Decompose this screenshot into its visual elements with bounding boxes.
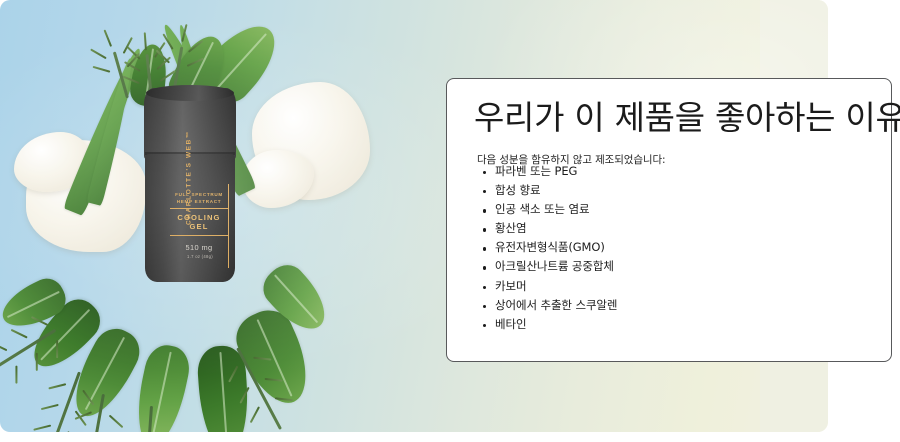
bottle-label-rule-vertical	[228, 184, 229, 268]
list-item: 상어에서 추출한 스쿠알렌	[483, 300, 617, 312]
bottle-label-rule-top	[170, 208, 228, 209]
list-item: 아크릴산나트륨 공중합체	[483, 261, 617, 273]
product-info-card: 우리가 이 제품을 좋아하는 이유 다음 성분을 함유하지 않고 제조되었습니다…	[446, 78, 892, 362]
list-item: 인공 색소 또는 염료	[483, 204, 617, 216]
bottle-label-block: FULL SPECTRUM HEMP EXTRACT COOLING GEL 5…	[170, 192, 228, 252]
card-title: 우리가 이 제품을 좋아하는 이유	[474, 100, 900, 137]
list-item: 카보머	[483, 281, 617, 293]
bottle-strength: 510 mg	[170, 239, 228, 252]
list-item: 황산염	[483, 223, 617, 235]
bottle-net-weight: 1.7 oz (48g)	[174, 254, 226, 259]
page-root: CHARLOTTE'S WEB™ FULL SPECTRUM HEMP EXTR…	[0, 0, 900, 442]
list-item: 합성 향료	[483, 185, 617, 197]
bottle-label-rule-bottom	[170, 235, 228, 236]
bottle-product-name: COOLING GEL	[170, 212, 228, 232]
excluded-ingredients-list: 파라벤 또는 PEG 합성 향료 인공 색소 또는 염료 황산염 유전자변형식품…	[465, 166, 617, 338]
bottle-spectrum-line-1: FULL SPECTRUM	[170, 192, 228, 199]
list-item: 파라벤 또는 PEG	[483, 166, 617, 178]
rosemary-sprig-bottom-left	[40, 371, 80, 432]
list-item: 유전자변형식품(GMO)	[483, 242, 617, 254]
list-item: 베타인	[483, 319, 617, 331]
bottle-spectrum-line-2: HEMP EXTRACT	[170, 199, 228, 206]
bottle-cap-top	[146, 85, 234, 101]
product-bottle: CHARLOTTE'S WEB™ FULL SPECTRUM HEMP EXTR…	[144, 88, 236, 286]
